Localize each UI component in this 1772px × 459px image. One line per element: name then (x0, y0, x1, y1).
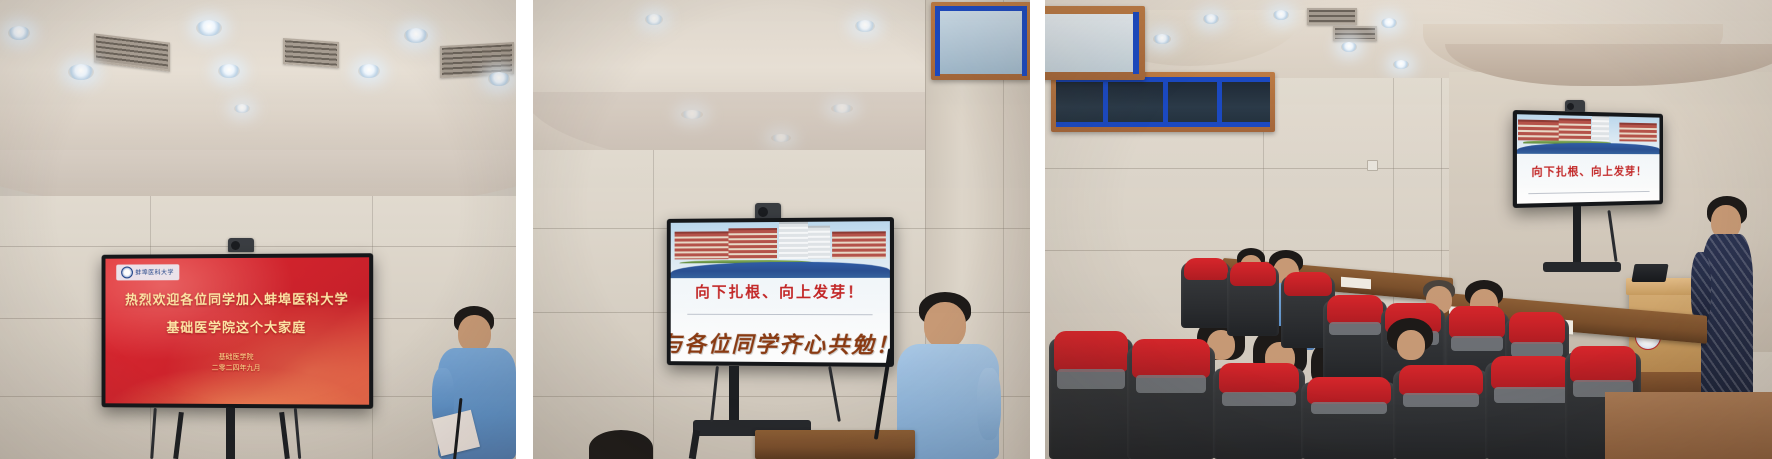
auditorium-seat (1127, 346, 1215, 459)
slide-motto-line-1: 向下扎根、向上发芽！ (1531, 162, 1646, 179)
audience-head-foreground (589, 430, 653, 459)
seat-headrest (1219, 363, 1300, 394)
ceiling-downlight (855, 20, 875, 32)
ceiling-vent (1307, 8, 1357, 25)
window-glass (937, 8, 1025, 74)
campus-building (1592, 115, 1609, 141)
window-mullion (1056, 122, 1270, 127)
head (458, 315, 491, 352)
ceiling-downlight (645, 14, 663, 25)
wall-speaker-box (1367, 160, 1378, 171)
window-frame (1051, 72, 1275, 132)
campus-building (1518, 119, 1560, 140)
ceiling-downlight (681, 110, 703, 119)
window-mullion (1133, 12, 1139, 74)
campus-river (1517, 143, 1659, 154)
screen-surface: 蚌埠医科大学 热烈欢迎各位同学加入蚌埠医科大学 基础医学院这个大家庭 基础医学院… (105, 257, 369, 404)
campus-building (808, 226, 830, 259)
ceiling-downlight (1393, 60, 1409, 69)
seat-accent (1222, 392, 1296, 407)
auditorium-seat (1213, 368, 1305, 459)
display-screen-1[interactable]: 蚌埠医科大学 热烈欢迎各位同学加入蚌埠医科大学 基础医学院这个大家庭 基础医学院… (102, 253, 374, 409)
campus-building (1559, 118, 1591, 141)
slide-motto: 向下扎根、向上发芽！ 与各位同学齐心共勉！ (671, 221, 890, 363)
campus-building (779, 222, 808, 259)
ceiling-camera (1565, 100, 1585, 112)
audience-person (1383, 318, 1439, 386)
seat-accent (1329, 322, 1380, 335)
arm (977, 368, 1001, 440)
tv-stand-post (729, 366, 739, 426)
seat-headrest (1307, 377, 1392, 403)
ceiling-vent (283, 38, 339, 68)
floor (1605, 392, 1772, 459)
camera-lens (231, 241, 240, 250)
campus-building (729, 228, 777, 259)
campus-building (832, 232, 886, 259)
ceiling-downlight (68, 64, 94, 80)
window-mullion (1163, 77, 1168, 127)
slide-headline-1: 热烈欢迎各位同学加入蚌埠医科大学 (125, 289, 349, 309)
ceiling (0, 0, 516, 175)
slide-text-block: 向下扎根、向上发芽！ (1517, 154, 1659, 204)
ceiling-downlight (358, 64, 380, 78)
ceiling-downlight (1341, 42, 1357, 52)
window-frame (1045, 6, 1145, 80)
campus-river (671, 262, 890, 278)
window-mullion (1217, 77, 1222, 127)
photo-panel-3: 向下扎根、向上发芽！ (1045, 0, 1772, 459)
seat-headrest (1230, 262, 1276, 286)
seat-headrest (1327, 295, 1383, 324)
photo-panel-2: 向下扎根、向上发芽！ 与各位同学齐心共勉！ (533, 0, 1030, 459)
display-screen-3[interactable]: 向下扎根、向上发芽！ (1513, 110, 1663, 208)
ceiling-downlight (488, 72, 510, 86)
ceiling-downlight (404, 28, 428, 43)
divider (1529, 191, 1650, 194)
camera-lens (758, 207, 768, 217)
ceiling-downlight (1153, 34, 1171, 44)
seat-accent (1451, 336, 1502, 351)
slide-welcome: 蚌埠医科大学 热烈欢迎各位同学加入蚌埠医科大学 基础医学院这个大家庭 基础医学院… (105, 257, 369, 404)
university-logo: 蚌埠医科大学 (116, 264, 179, 280)
head (1397, 330, 1425, 360)
seat-accent (1057, 369, 1124, 388)
seat-headrest (1132, 339, 1209, 377)
ceiling-downlight (234, 104, 250, 113)
seat-headrest (1184, 258, 1228, 280)
ceiling-camera (228, 238, 254, 252)
seat-accent (1311, 402, 1388, 414)
display-screen-2[interactable]: 向下扎根、向上发芽！ 与各位同学齐心共勉！ (667, 217, 894, 367)
seat-accent (1136, 375, 1206, 393)
seat-headrest (1449, 306, 1505, 337)
ceiling-downlight (831, 104, 853, 113)
auditorium-seat (1227, 266, 1279, 336)
ceiling-downlight (1203, 14, 1219, 24)
campus-building (1619, 122, 1657, 141)
auditorium-seat (1301, 382, 1397, 459)
seat-headrest (1570, 346, 1637, 382)
campus-photo (1517, 114, 1659, 154)
person-speaker-1 (432, 306, 516, 459)
wall-seam (0, 246, 516, 247)
head (924, 302, 966, 348)
tv-stand-post (1573, 206, 1581, 268)
seat-headrest (1054, 331, 1128, 372)
screen-surface: 向下扎根、向上发芽！ 与各位同学齐心共勉！ (671, 221, 890, 363)
window-mullion (935, 6, 940, 76)
slide-subline-1: 基础医学院 (219, 352, 254, 363)
ceiling-downlight (1273, 10, 1289, 20)
photo-collage: 蚌埠医科大学 热烈欢迎各位同学加入蚌埠医科大学 基础医学院这个大家庭 基础医学院… (0, 0, 1772, 459)
slide-subline-2: 二零二四年九月 (212, 362, 261, 373)
seat-headrest (1509, 312, 1565, 344)
ceiling-vent (1333, 26, 1377, 41)
tv-stand-post (226, 408, 235, 459)
photo-panel-1: 蚌埠医科大学 热烈欢迎各位同学加入蚌埠医科大学 基础医学院这个大家庭 基础医学院… (0, 0, 516, 459)
auditorium-seat (1323, 300, 1387, 384)
tv-stand-foot (1543, 262, 1621, 272)
seat-accent (1403, 393, 1480, 407)
slide-text-block: 向下扎根、向上发芽！ 与各位同学齐心共勉！ (671, 278, 890, 363)
campus-photo (671, 221, 890, 278)
laptop (1631, 264, 1668, 282)
seat-accent (1494, 387, 1568, 403)
logo-text: 蚌埠医科大学 (135, 268, 173, 277)
slide-motto: 向下扎根、向上发芽！ (1517, 114, 1659, 204)
screen-surface: 向下扎根、向上发芽！ (1517, 114, 1659, 204)
ceiling-downlight (196, 20, 222, 36)
wall-seam (653, 150, 654, 459)
ceiling-downlight (1381, 18, 1397, 28)
ceiling-downlight (218, 64, 240, 78)
window-mullion (1022, 6, 1027, 76)
seal-icon (121, 266, 133, 278)
divider (687, 314, 873, 315)
window-mullion (935, 6, 1027, 11)
seat-headrest (1284, 272, 1332, 296)
slide-motto-line-1: 向下扎根、向上发芽！ (695, 281, 864, 302)
window-glass (1045, 14, 1137, 72)
seat-headrest (1491, 356, 1572, 389)
ceiling-camera (755, 203, 781, 219)
ceiling-downlight (771, 134, 791, 142)
auditorium-seat (1049, 338, 1133, 459)
camera-lens (1567, 103, 1574, 110)
auditorium-seat (1485, 362, 1577, 459)
window-mullion (1103, 77, 1108, 127)
window-frame (931, 2, 1030, 80)
auditorium-seat (1181, 262, 1231, 328)
slide-motto-line-2: 与各位同学齐心共勉！ (671, 327, 890, 360)
campus-building (675, 232, 731, 260)
slide-headline-2: 基础医学院这个大家庭 (166, 317, 306, 336)
lectern (755, 430, 915, 459)
ceiling-downlight (8, 26, 30, 40)
